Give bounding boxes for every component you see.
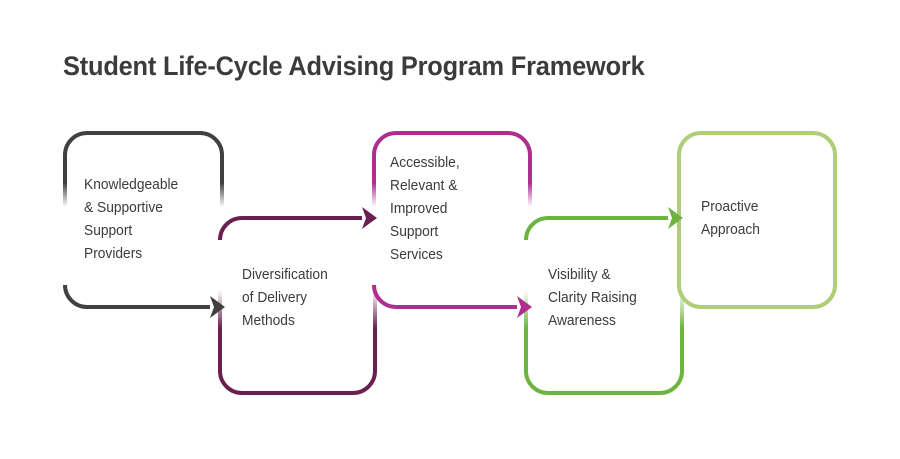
connector-shaft-2 (220, 218, 362, 240)
connector-shaft-4 (526, 218, 668, 240)
connector-shaft-3 (374, 285, 517, 307)
diagram-canvas: Student Life-Cycle Advising Program Fram… (0, 0, 900, 459)
stage-label-5: Proactive Approach (701, 196, 760, 242)
stage-label-4: Visibility & Clarity Raising Awareness (548, 264, 637, 333)
stage-label-1: Knowledgeable & Supportive Support Provi… (84, 174, 178, 266)
connector-shaft-1 (65, 285, 210, 307)
stage-label-2: Diversification of Delivery Methods (242, 264, 328, 333)
stage-label-3: Accessible, Relevant & Improved Support … (390, 152, 460, 267)
